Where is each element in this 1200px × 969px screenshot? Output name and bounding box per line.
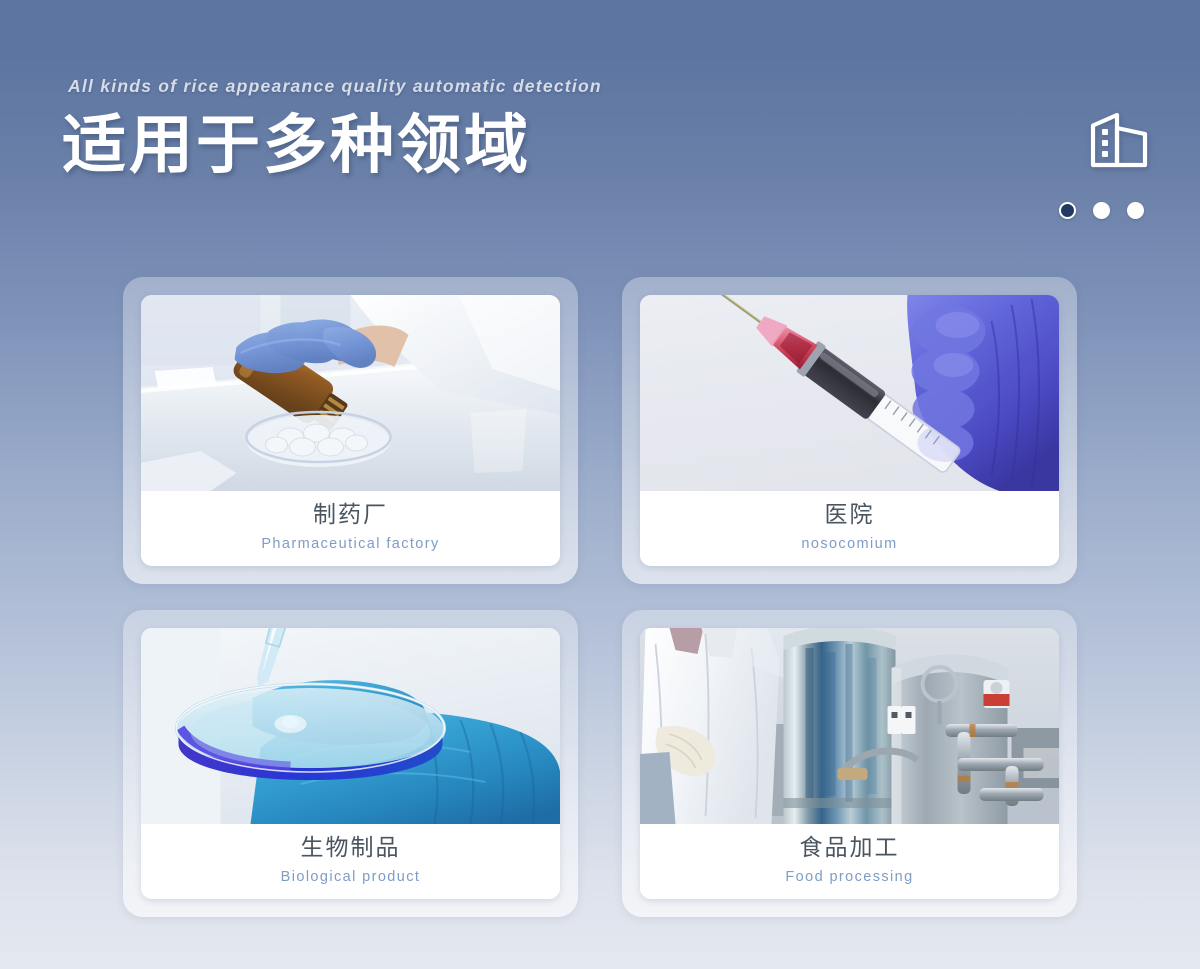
carousel-dots[interactable] bbox=[1059, 202, 1144, 219]
card-caption-nosocomium: 医院 nosocomium bbox=[640, 491, 1059, 566]
card-food-processing[interactable]: 食品加工 Food processing bbox=[640, 628, 1059, 899]
page-header: All kinds of rice appearance quality aut… bbox=[0, 0, 1200, 258]
card-title-cn: 生物制品 bbox=[301, 833, 401, 862]
carousel-dot-1[interactable] bbox=[1059, 202, 1076, 219]
card-caption-biological-product: 生物制品 Biological product bbox=[141, 824, 560, 899]
card-title-cn: 制药厂 bbox=[313, 500, 388, 529]
card-frame-nosocomium[interactable]: 医院 nosocomium bbox=[622, 277, 1077, 584]
card-frame-pharmaceutical-factory[interactable]: 制药厂 Pharmaceutical factory bbox=[123, 277, 578, 584]
card-title-en: nosocomium bbox=[801, 536, 897, 553]
card-title-en: Biological product bbox=[281, 869, 421, 886]
carousel-dot-3[interactable] bbox=[1127, 202, 1144, 219]
application-fields-grid: 制药厂 Pharmaceutical factory bbox=[123, 277, 1077, 917]
card-caption-pharmaceutical-factory: 制药厂 Pharmaceutical factory bbox=[141, 491, 560, 566]
card-image-nosocomium bbox=[640, 295, 1059, 491]
card-image-pharmaceutical-factory bbox=[141, 295, 560, 491]
card-title-en: Pharmaceutical factory bbox=[261, 536, 439, 553]
building-icon bbox=[1087, 110, 1153, 170]
card-biological-product[interactable]: 生物制品 Biological product bbox=[141, 628, 560, 899]
card-pharmaceutical-factory[interactable]: 制药厂 Pharmaceutical factory bbox=[141, 295, 560, 566]
card-image-food-processing bbox=[640, 628, 1059, 824]
card-caption-food-processing: 食品加工 Food processing bbox=[640, 824, 1059, 899]
carousel-dot-2[interactable] bbox=[1093, 202, 1110, 219]
card-frame-biological-product[interactable]: 生物制品 Biological product bbox=[123, 610, 578, 917]
card-image-biological-product bbox=[141, 628, 560, 824]
card-title-cn: 医院 bbox=[825, 500, 875, 529]
card-title-cn: 食品加工 bbox=[800, 833, 900, 862]
card-frame-food-processing[interactable]: 食品加工 Food processing bbox=[622, 610, 1077, 917]
card-title-en: Food processing bbox=[785, 869, 913, 886]
card-nosocomium[interactable]: 医院 nosocomium bbox=[640, 295, 1059, 566]
page-title: 适用于多种领域 bbox=[62, 113, 531, 177]
header-eyebrow-text: All kinds of rice appearance quality aut… bbox=[68, 76, 602, 97]
